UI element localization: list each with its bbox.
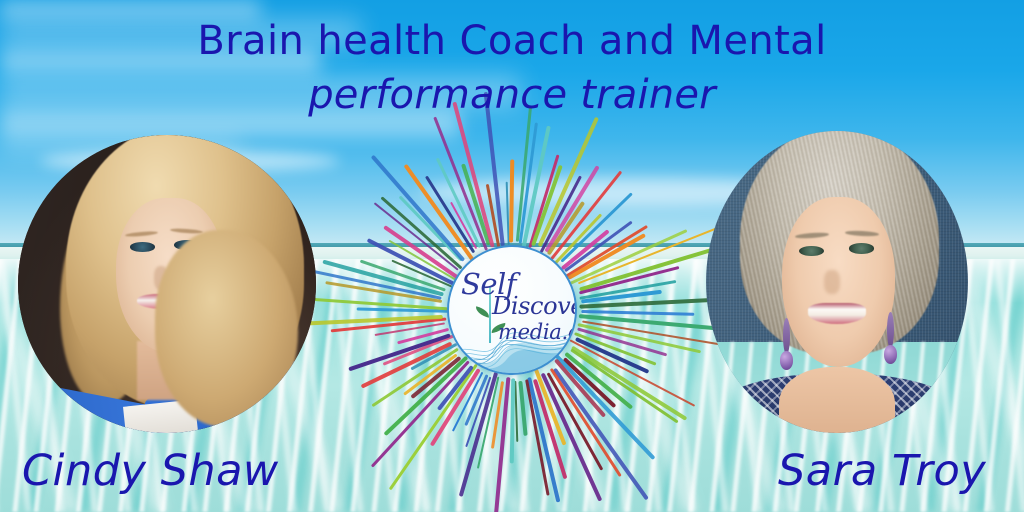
cloud	[0, 48, 320, 74]
earring-left-drop	[780, 351, 793, 369]
hair-right-strands	[155, 230, 298, 427]
logo-word-media: media.com	[498, 320, 577, 344]
eye-right	[849, 243, 874, 253]
earring-right	[887, 312, 894, 348]
podcast-banner: Self Discovery media.com	[0, 0, 1024, 512]
cloud	[0, 74, 520, 108]
nose	[824, 270, 840, 294]
logo-text-block: Self Discovery media.com	[449, 247, 575, 373]
logo-word-discovery: Discovery	[492, 292, 577, 320]
neck-chest	[779, 367, 894, 433]
cloud	[0, 18, 360, 48]
eye-left	[130, 242, 155, 252]
host-photo-sara-troy[interactable]	[706, 131, 968, 433]
eye-left	[799, 246, 824, 256]
guest-photo-cindy-shaw[interactable]	[18, 135, 316, 433]
self-discovery-media-logo[interactable]: Self Discovery media.com	[447, 245, 577, 375]
earring-right-drop	[884, 345, 897, 363]
cloud	[0, 108, 460, 138]
cloud	[0, 0, 260, 18]
